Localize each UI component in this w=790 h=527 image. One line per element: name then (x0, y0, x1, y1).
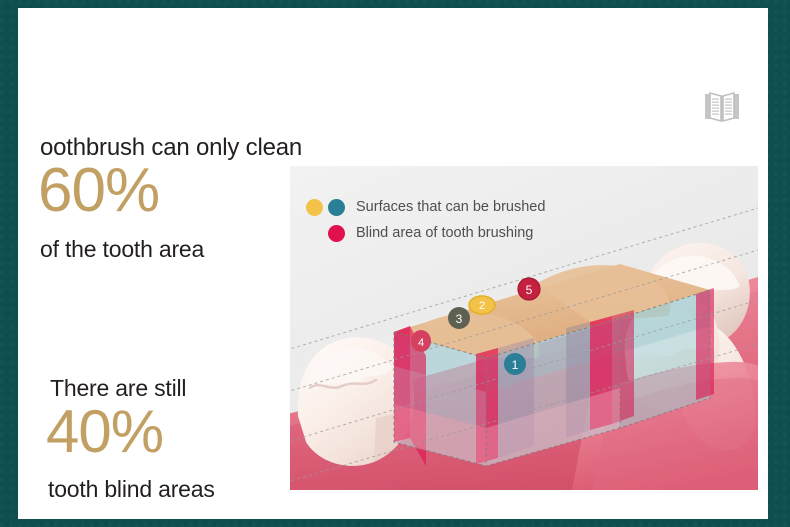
legend-dot-teal (328, 199, 345, 216)
legend: Surfaces that can be brushed Blind area … (306, 194, 545, 246)
marker-1: 1 (504, 353, 526, 375)
stat-forty-percent: 40% (46, 402, 163, 462)
legend-label-blind: Blind area of tooth brushing (356, 226, 533, 241)
outer-frame: oothbrush can only clean 60% of the toot… (0, 0, 790, 527)
open-book-icon[interactable] (704, 90, 740, 124)
svg-text:5: 5 (526, 283, 533, 297)
stat-sixty-percent: 60% (38, 160, 159, 222)
svg-text:1: 1 (512, 358, 519, 372)
marker-2: 2 (469, 296, 495, 314)
legend-item-brushable: Surfaces that can be brushed (306, 194, 545, 220)
svg-text:2: 2 (479, 300, 485, 312)
marker-3: 3 (448, 307, 470, 329)
svg-text:3: 3 (456, 312, 463, 326)
marker-5: 5 (518, 278, 540, 300)
legend-item-blind: Blind area of tooth brushing (306, 220, 545, 246)
legend-dot-crimson (328, 225, 345, 242)
content-card: oothbrush can only clean 60% of the toot… (18, 8, 768, 519)
subhead-secondary: tooth blind areas (48, 476, 215, 503)
svg-text:4: 4 (418, 337, 424, 349)
legend-label-brushable: Surfaces that can be brushed (356, 200, 545, 215)
legend-dot-yellow (306, 199, 323, 216)
headline-secondary: of the tooth area (40, 236, 204, 263)
marker-4: 4 (411, 330, 431, 352)
